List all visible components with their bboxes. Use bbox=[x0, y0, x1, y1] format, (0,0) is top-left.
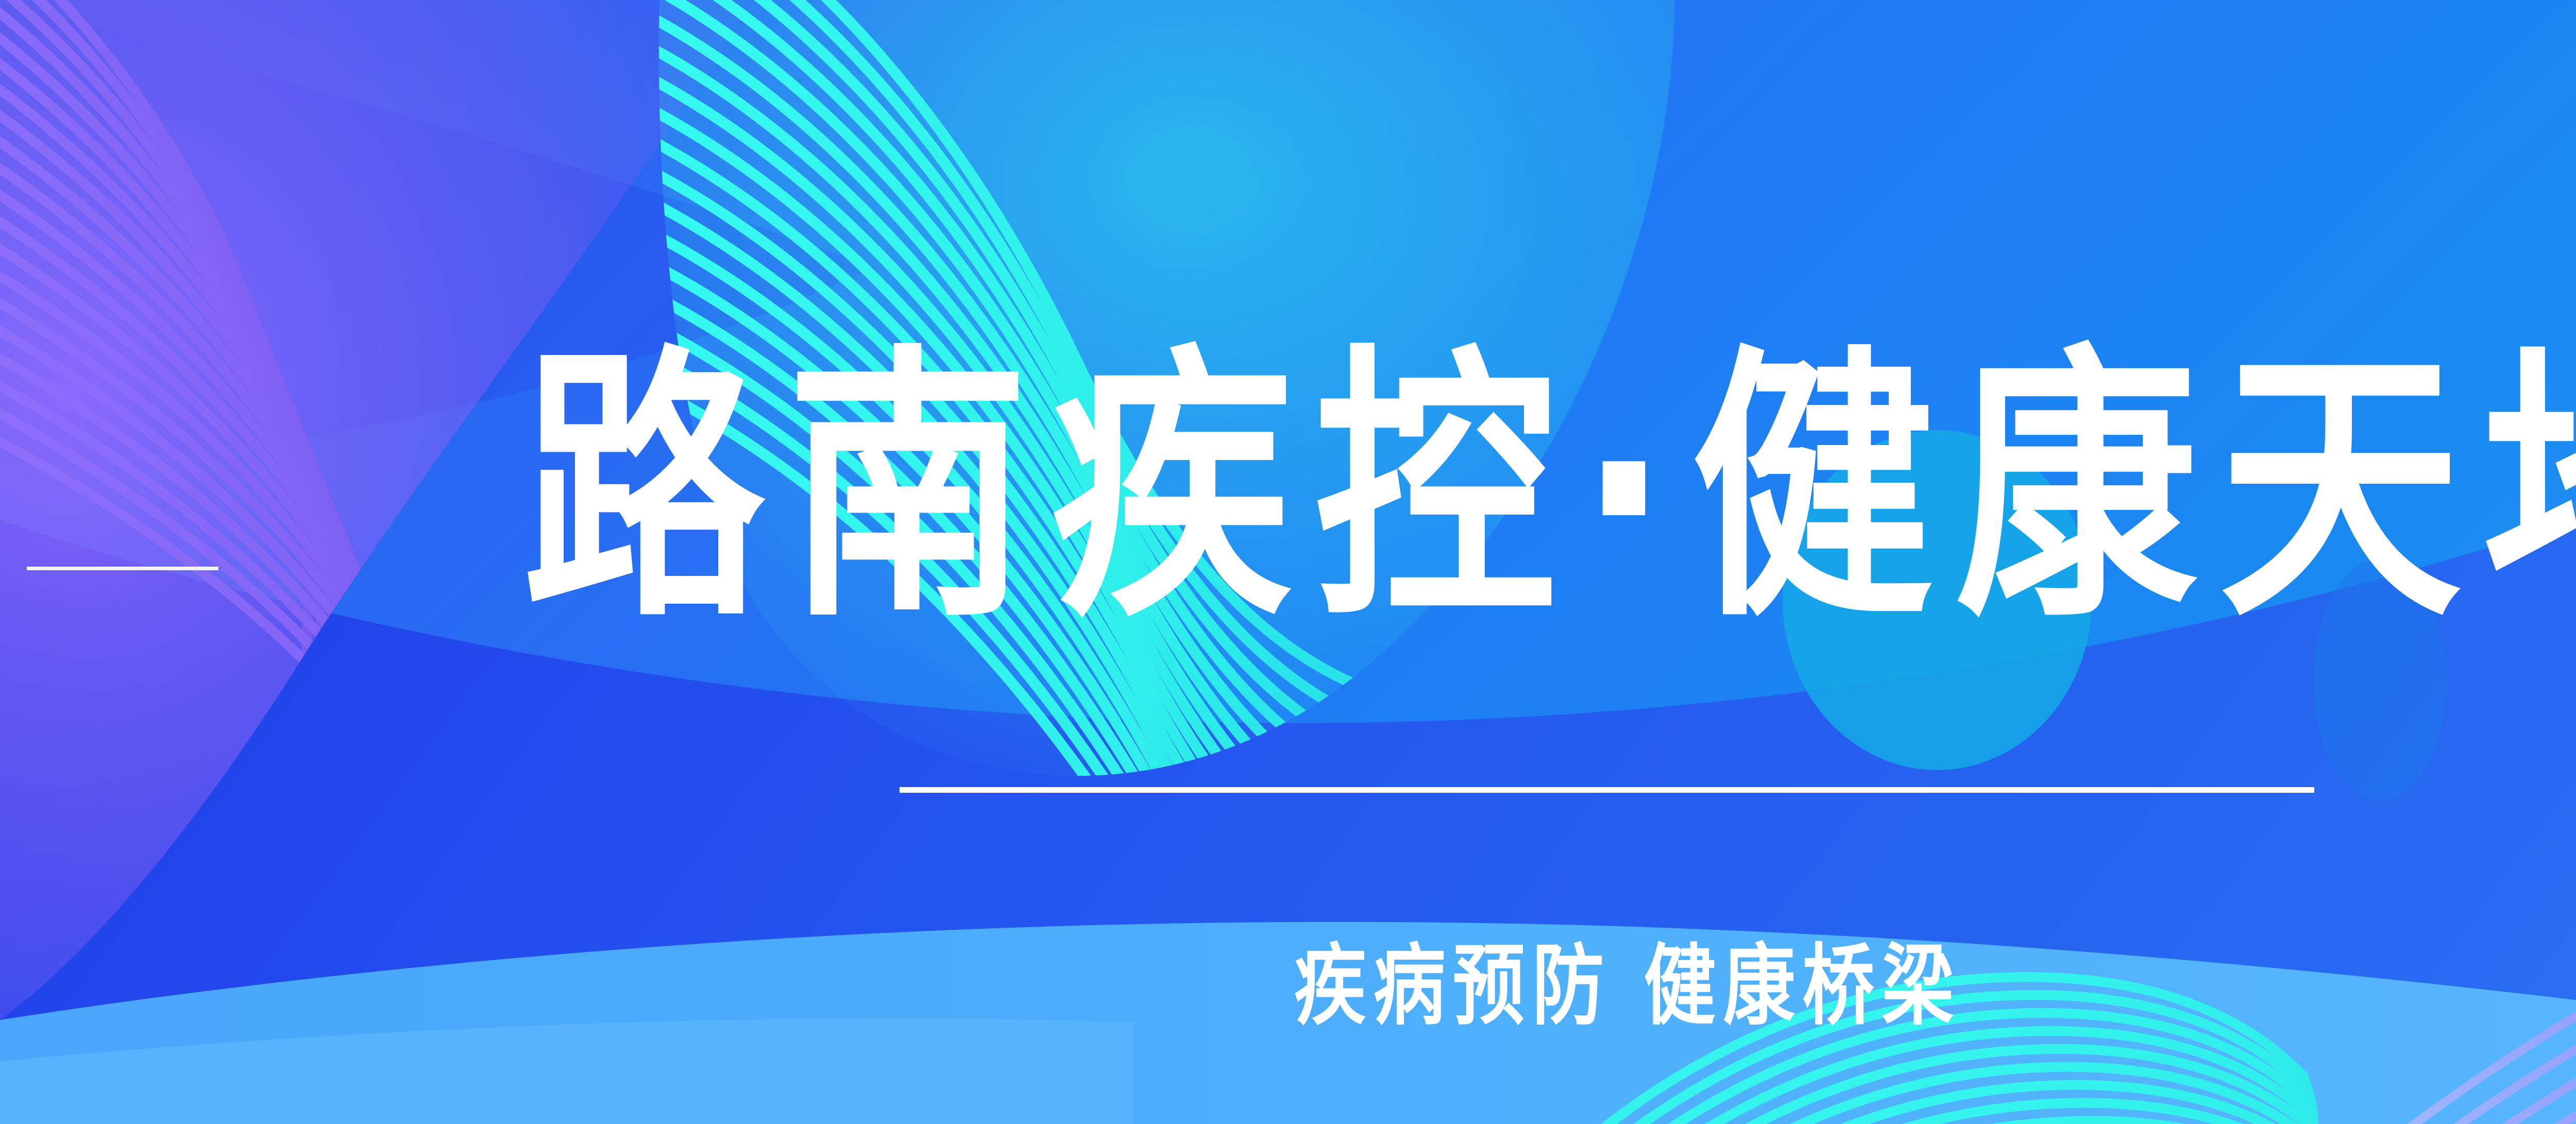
title-block: 路南疾控·健康天地 疾病预防 健康桥梁 bbox=[0, 0, 2576, 1124]
banner-main-title: 路南疾控·健康天地 bbox=[0, 346, 2576, 632]
health-banner: 路南疾控·健康天地 疾病预防 健康桥梁 bbox=[0, 0, 2576, 1124]
banner-subtitle: 疾病预防 健康桥梁 bbox=[0, 943, 2576, 1031]
